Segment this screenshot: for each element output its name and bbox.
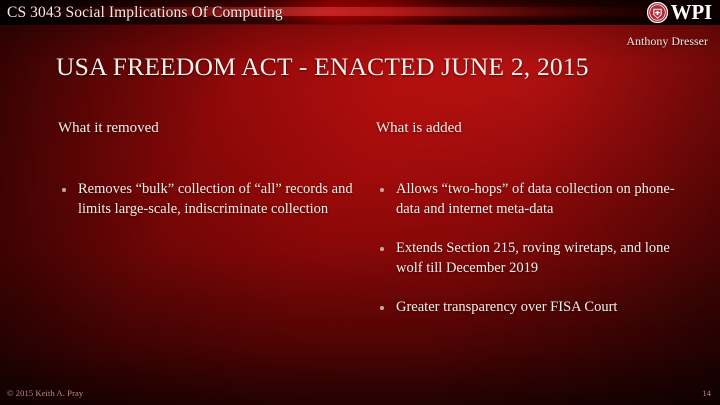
wpi-logo: WPI bbox=[647, 0, 712, 25]
bullet-dot-icon bbox=[380, 188, 384, 192]
slide-page-number: 14 bbox=[703, 388, 712, 399]
bullet-text: Extends Section 215, roving wiretaps, an… bbox=[396, 240, 670, 276]
bullet-dot-icon bbox=[380, 306, 384, 310]
bullet-text: Removes “bulk” collection of “all” recor… bbox=[78, 181, 353, 217]
bullet-dot-icon bbox=[380, 247, 384, 251]
column-heading-removed: What it removed bbox=[58, 118, 358, 138]
bullet-text: Greater transparency over FISA Court bbox=[396, 299, 617, 315]
author-byline: Anthony Dresser bbox=[626, 34, 708, 49]
course-title: CS 3043 Social Implications Of Computing bbox=[7, 1, 283, 24]
bullet-list-removed: Removes “bulk” collection of “all” recor… bbox=[58, 180, 358, 219]
wpi-seal-icon bbox=[647, 2, 668, 23]
list-item: Extends Section 215, roving wiretaps, an… bbox=[376, 239, 686, 278]
list-item: Greater transparency over FISA Court bbox=[376, 298, 686, 318]
column-heading-added: What is added bbox=[376, 118, 686, 138]
presentation-slide: CS 3043 Social Implications Of Computing… bbox=[0, 0, 720, 405]
bullet-dot-icon bbox=[62, 188, 66, 192]
list-item: Removes “bulk” collection of “all” recor… bbox=[58, 180, 358, 219]
bullet-list-added: Allows “two-hops” of data collection on … bbox=[376, 180, 686, 318]
content-column-right: What is added Allows “two-hops” of data … bbox=[376, 118, 686, 318]
slide-title: USA FREEDOM ACT - ENACTED JUNE 2, 2015 bbox=[56, 50, 676, 83]
list-item: Allows “two-hops” of data collection on … bbox=[376, 180, 686, 219]
wpi-wordmark: WPI bbox=[671, 2, 712, 23]
content-column-left: What it removed Removes “bulk” collectio… bbox=[58, 118, 358, 219]
bullet-text: Allows “two-hops” of data collection on … bbox=[396, 181, 675, 217]
slide-header-bar: CS 3043 Social Implications Of Computing… bbox=[0, 0, 720, 25]
footer-copyright: © 2015 Keith A. Pray bbox=[7, 388, 83, 399]
header-bar-underline bbox=[0, 24, 720, 25]
